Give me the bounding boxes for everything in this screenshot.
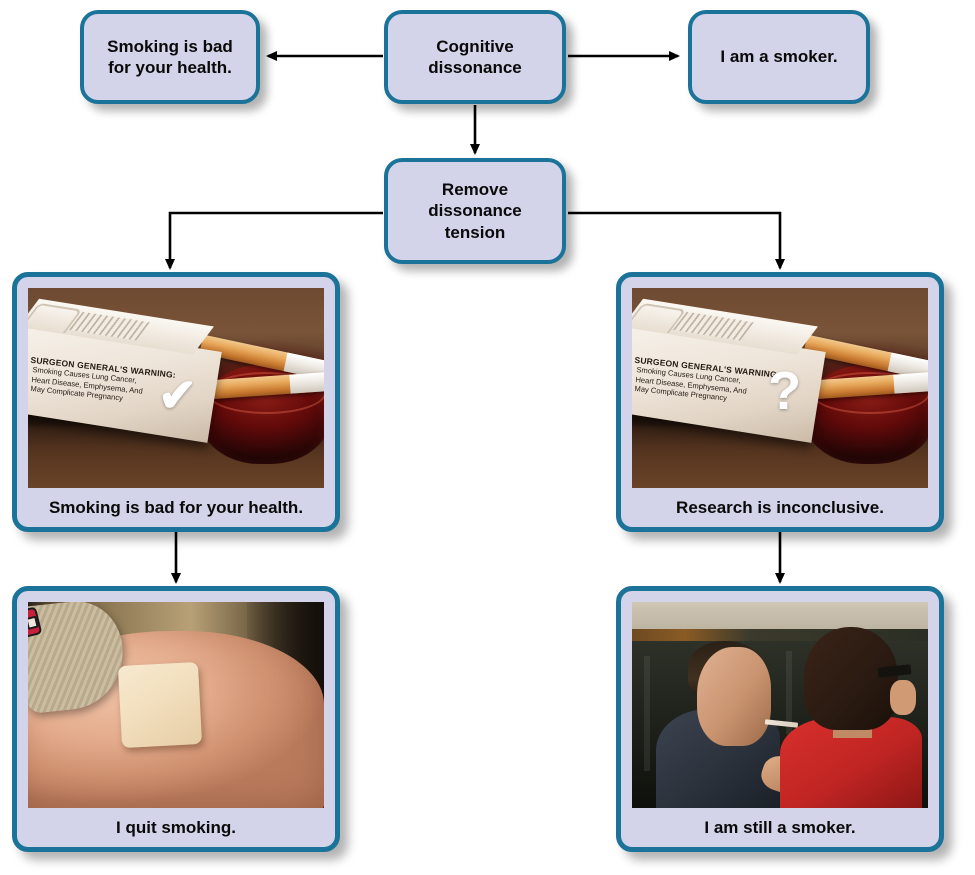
photo-cigarette-pack-ashtray: SURGEON GENERAL'S WARNING: Smoking Cause…	[28, 288, 324, 488]
diagram-canvas: Smoking is bad for your health. Cognitiv…	[0, 0, 975, 875]
photo-nicotine-patch	[118, 662, 202, 748]
card-quit[interactable]: I quit smoking.	[12, 586, 340, 852]
node-remove-dissonance-tension-label: Remove dissonance tension	[428, 179, 522, 243]
photo-woman-hand	[890, 680, 917, 715]
card-continue-photo	[632, 602, 928, 808]
checkmark-overlay-icon: ✔	[158, 372, 197, 418]
card-deny-photo: SURGEON GENERAL'S WARNING: Smoking Cause…	[632, 288, 928, 488]
card-deny[interactable]: SURGEON GENERAL'S WARNING: Smoking Cause…	[616, 272, 944, 532]
node-cognitive-dissonance[interactable]: Cognitive dissonance	[384, 10, 566, 104]
node-cognitive-dissonance-label: Cognitive dissonance	[428, 36, 522, 79]
node-behavior[interactable]: I am a smoker.	[688, 10, 870, 104]
photo-two-people-one-smoking	[632, 602, 928, 808]
question-mark-overlay-icon: ?	[768, 364, 801, 418]
card-accept[interactable]: SURGEON GENERAL'S WARNING: Smoking Cause…	[12, 272, 340, 532]
card-continue[interactable]: I am still a smoker.	[616, 586, 944, 852]
card-deny-caption: Research is inconclusive.	[676, 488, 884, 527]
card-accept-caption: Smoking is bad for your health.	[49, 488, 303, 527]
node-belief[interactable]: Smoking is bad for your health.	[80, 10, 260, 104]
node-behavior-label: I am a smoker.	[720, 46, 837, 67]
photo-nicotine-patch-on-arm	[28, 602, 324, 808]
photo-wall-band	[632, 629, 928, 641]
node-remove-dissonance-tension[interactable]: Remove dissonance tension	[384, 158, 566, 264]
connector-remove-to-accept	[170, 213, 383, 268]
card-quit-photo	[28, 602, 324, 808]
card-quit-caption: I quit smoking.	[116, 808, 236, 847]
photo-rail-left	[644, 656, 650, 771]
photo-cigarette-filter	[289, 372, 324, 394]
card-continue-caption: I am still a smoker.	[704, 808, 855, 847]
photo-cigarette-filter	[893, 372, 928, 394]
photo-man-head	[697, 647, 771, 746]
photo-woman-hair	[804, 627, 899, 730]
card-accept-photo: SURGEON GENERAL'S WARNING: Smoking Cause…	[28, 288, 324, 488]
photo-sleeve-logo	[28, 606, 43, 637]
photo-cigarette-pack-ashtray: SURGEON GENERAL'S WARNING: Smoking Cause…	[632, 288, 928, 488]
node-belief-label: Smoking is bad for your health.	[107, 36, 233, 79]
connector-remove-to-deny	[568, 213, 780, 268]
